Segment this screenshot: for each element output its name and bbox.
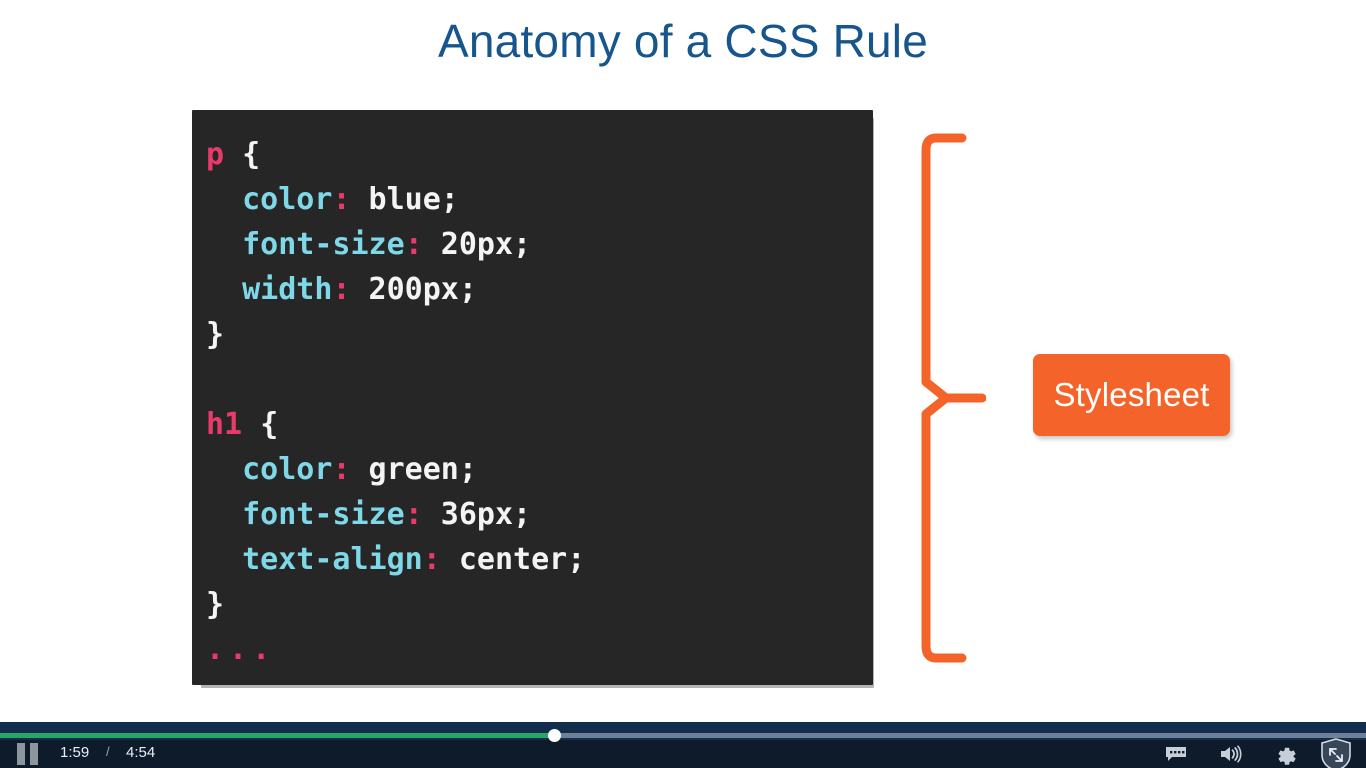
- code-line: font-size: 20px;: [192, 222, 873, 267]
- progress-bar-region[interactable]: [0, 722, 1366, 740]
- css-code-block: p { color: blue; font-size: 20px; width:…: [192, 110, 873, 685]
- code-line: p {: [192, 132, 873, 177]
- css-selector: p: [206, 137, 224, 172]
- total-time-label: 4:54: [126, 744, 155, 761]
- closed-captions-icon[interactable]: [1163, 742, 1189, 766]
- fullscreen-shield-icon[interactable]: [1316, 736, 1356, 768]
- code-indent: [206, 452, 242, 487]
- code-indent: [206, 542, 242, 577]
- css-brace: {: [242, 137, 260, 172]
- time-separator: /: [106, 744, 110, 759]
- css-property: font-size: [242, 227, 405, 262]
- css-brace: }: [206, 317, 224, 352]
- css-property: width: [242, 272, 332, 307]
- css-colon: :: [332, 452, 350, 487]
- css-colon: :: [405, 227, 423, 262]
- css-value: center;: [441, 542, 586, 577]
- code-line: h1 {: [192, 402, 873, 447]
- css-ellipsis: ...: [206, 632, 275, 667]
- stylesheet-callout-label: Stylesheet: [1053, 376, 1209, 414]
- css-colon: :: [423, 542, 441, 577]
- code-indent: [206, 227, 242, 262]
- volume-icon[interactable]: [1218, 742, 1244, 766]
- code-indent: [206, 182, 242, 217]
- page-title: Anatomy of a CSS Rule: [0, 14, 1366, 68]
- code-line: color: green;: [192, 447, 873, 492]
- pause-button[interactable]: [14, 742, 40, 766]
- code-line: }: [192, 582, 873, 627]
- slide-canvas: Anatomy of a CSS Rule p { color: blue; f…: [0, 0, 1366, 722]
- code-line: width: 200px;: [192, 267, 873, 312]
- orange-bracket-icon: [916, 132, 986, 664]
- css-colon: :: [405, 497, 423, 532]
- css-colon: :: [332, 272, 350, 307]
- pause-bar-left: [17, 743, 25, 765]
- css-property: color: [242, 182, 332, 217]
- progress-fill: [0, 733, 554, 738]
- code-line-ellipsis: ...: [192, 627, 873, 672]
- css-value: blue;: [351, 182, 459, 217]
- code-indent: [206, 497, 242, 532]
- gear-icon[interactable]: [1272, 742, 1298, 766]
- controls-row: 1:59 / 4:54: [0, 740, 1366, 768]
- css-brace: {: [260, 407, 278, 442]
- css-colon: :: [332, 182, 350, 217]
- current-time-label: 1:59: [60, 744, 89, 761]
- code-line: }: [192, 312, 873, 357]
- code-indent: [206, 272, 242, 307]
- css-property: font-size: [242, 497, 405, 532]
- pause-bar-right: [30, 743, 38, 765]
- code-line: text-align: center;: [192, 537, 873, 582]
- code-line: color: blue;: [192, 177, 873, 222]
- css-value: 20px;: [423, 227, 531, 262]
- code-line-blank: [192, 357, 873, 402]
- css-value: 36px;: [423, 497, 531, 532]
- css-value: 200px;: [351, 272, 477, 307]
- css-brace: }: [206, 587, 224, 622]
- stylesheet-callout-box: Stylesheet: [1033, 354, 1230, 436]
- css-property: text-align: [242, 542, 423, 577]
- video-player-controls-bar: 1:59 / 4:54: [0, 722, 1366, 768]
- code-line: font-size: 36px;: [192, 492, 873, 537]
- css-selector: h1: [206, 407, 242, 442]
- css-value: green;: [351, 452, 477, 487]
- css-property: color: [242, 452, 332, 487]
- video-player-stage: Anatomy of a CSS Rule p { color: blue; f…: [0, 0, 1366, 768]
